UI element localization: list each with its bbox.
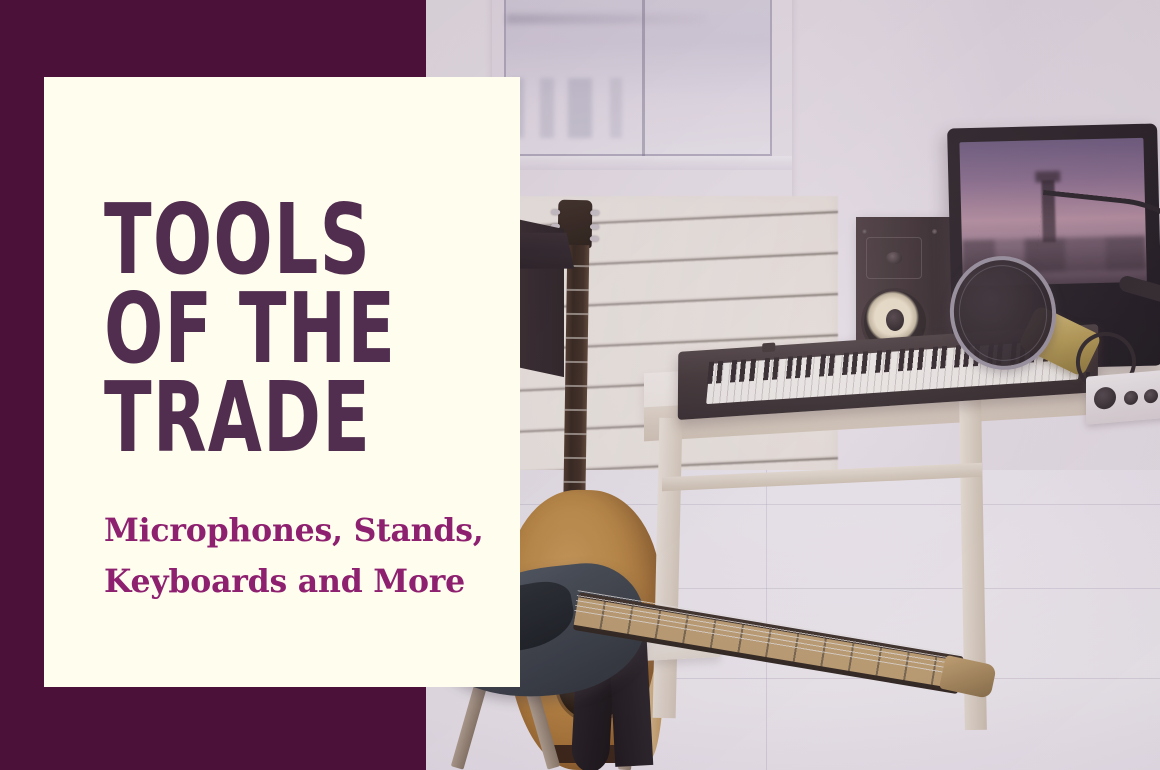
banner-root: Tools of the Trade Microphones, Stands, … — [0, 0, 1160, 770]
page-title: Tools of the Trade — [104, 195, 418, 463]
page-subtitle: Microphones, Stands, Keyboards and More — [104, 505, 496, 607]
window-icon — [492, 0, 792, 200]
audio-interface — [1086, 367, 1160, 425]
text-card: Tools of the Trade Microphones, Stands, … — [44, 77, 520, 687]
studio-photo — [426, 0, 1160, 770]
